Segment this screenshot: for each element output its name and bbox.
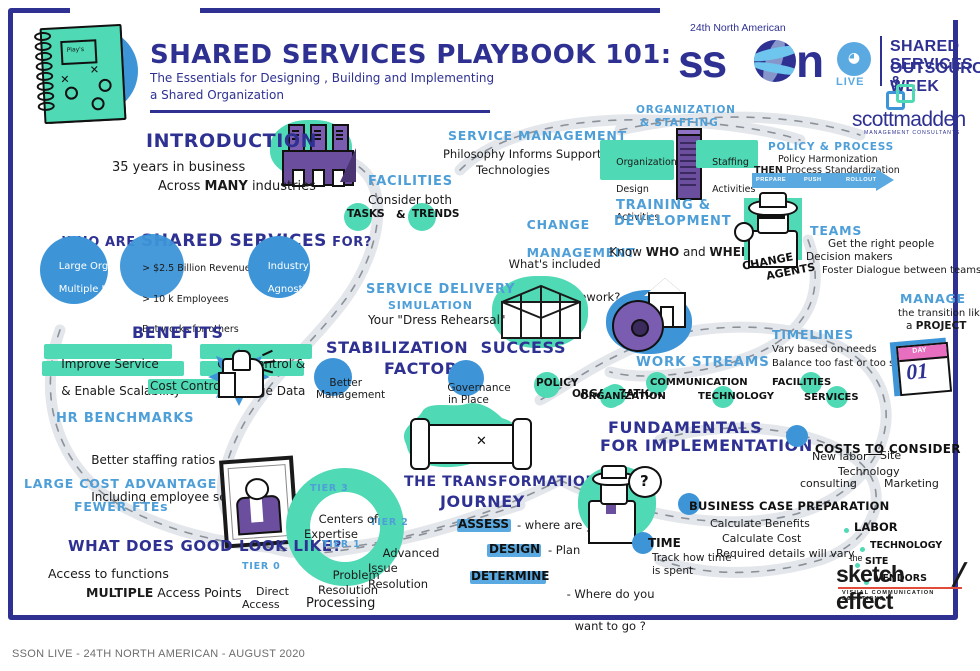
section-heading-transformation-journey-1: THE TRANSFORMATION xyxy=(404,475,598,491)
manage-line-2: a PROJECT xyxy=(906,321,966,333)
section-heading-work-streams: WORK STREAMS xyxy=(636,355,770,370)
border-notch-left xyxy=(70,4,200,18)
section-heading-service-delivery: SERVICE DELIVERY xyxy=(366,283,515,298)
bubble-industry-agnostic-label: Industry Agnostic xyxy=(255,250,311,306)
scottmadden-logo: scottmadden MANAGEMENT CONSULTANTS xyxy=(852,86,964,128)
introduction-line-1: 35 years in business xyxy=(112,161,245,176)
sketch-effect-tagline: VISUAL COMMUNICATION SOLUTIONS xyxy=(842,590,966,602)
film-reel-illustration xyxy=(612,300,664,352)
section-heading-facilities: FACILITIES xyxy=(368,175,453,190)
subtitle-line-1: The Essentials for Designing , Building … xyxy=(150,71,494,85)
title-underline xyxy=(150,110,490,113)
sketch-effect-logo: the sketch effect / VISUAL COMMUNICATION… xyxy=(836,553,966,601)
arrow-step-prepare: PREPARE xyxy=(756,177,786,183)
journey-step-1-label: ASSESS xyxy=(458,518,509,531)
sson-eyebrow: 24th North American xyxy=(690,22,786,34)
squares-icon xyxy=(886,84,916,108)
journey-step-2-text: - Plan xyxy=(548,544,580,557)
tier-0-text: DirectAccess xyxy=(242,574,289,623)
footer-caption: SSON LIVE - 24TH NORTH AMERICAN - AUGUST… xyxy=(12,648,305,660)
section-heading-transformation-journey-2: JOURNEY xyxy=(440,493,525,511)
facilities-pill-trends: TRENDS xyxy=(412,209,460,221)
service-delivery-line-1: Your "Dress Rehearsal" xyxy=(368,314,505,327)
business-case-line-2: Calculate Cost xyxy=(722,533,801,545)
section-heading-training-development-2: DEVELOPMENT xyxy=(614,215,731,230)
tier-2-text: AdvancedIssueResolution xyxy=(368,530,439,608)
page-subtitle: The Essentials for Designing , Building … xyxy=(150,70,494,105)
cost-item-site: Site xyxy=(880,450,901,462)
section-heading-organization-staffing-1: ORGANIZATION xyxy=(636,105,736,117)
tiers-processing-label: Processing xyxy=(306,597,375,612)
section-heading-training-development-1: TRAINING & xyxy=(616,199,711,214)
facilities-pill-tasks: TASKS xyxy=(347,209,385,221)
bullet-technology-dot xyxy=(860,547,865,552)
arrow-tip-icon xyxy=(876,169,894,191)
business-case-line-1: Calculate Benefits xyxy=(710,518,810,530)
training-development-line: Know WHO and WHEN xyxy=(594,233,751,273)
cost-bullet-labor: LABOR xyxy=(854,521,898,534)
playbook-tag-label: Play's xyxy=(67,46,85,54)
factory-roof xyxy=(340,148,356,182)
time-line-1: Track how time xyxy=(652,553,732,565)
scroll-end-right xyxy=(512,418,532,470)
globe-icon xyxy=(754,40,796,82)
introduction-line-2: Across MANY industries xyxy=(158,180,316,195)
thumb-cuff xyxy=(218,372,236,398)
service-management-line-1: Philosophy Informs Supporting xyxy=(443,148,619,161)
stabilization-bubble-1-label: BetterManagement xyxy=(316,366,385,413)
magnifier-icon xyxy=(734,222,754,242)
timelines-line-1: Vary based on needs xyxy=(772,344,877,355)
bubble-large-orgs-label: Large Orgs Multiple Units xyxy=(46,250,127,306)
facilities-amp: & xyxy=(396,209,406,221)
page-title: SHARED SERVICES PLAYBOOK 101: xyxy=(150,40,672,70)
treasure-map-scroll: ✕ xyxy=(418,424,526,464)
section-heading-business-case: BUSINESS CASE PREPARATION xyxy=(689,500,889,513)
explorer-hat-crown xyxy=(601,465,627,479)
facilities-line-1: Consider both xyxy=(368,194,452,207)
teams-line-2: Decision makers xyxy=(806,252,893,264)
section-heading-what-does-good-look-like: WHAT DOES GOOD LOOK LIKE? xyxy=(68,538,342,555)
work-stream-organization: ORGANIZATION xyxy=(580,391,666,402)
calendar-illustration: DAY 01 xyxy=(896,342,952,396)
cost-item-new-labor: New labor xyxy=(812,451,868,463)
sketchnote-canvas: 24th North American ss n ◕ LIVE SHARED S… xyxy=(0,0,980,671)
work-stream-technology: TECHNOLOGY xyxy=(698,391,774,402)
section-heading-time: TIME xyxy=(648,537,681,550)
playbook-tag: Play's xyxy=(60,39,97,65)
teams-line-1: Get the right people xyxy=(828,239,934,251)
cost-bullet-technology: TECHNOLOGY xyxy=(870,541,942,552)
cost-item-marketing: Marketing xyxy=(884,478,939,490)
work-stream-facilities: FACILITIES xyxy=(772,377,831,388)
tier-3-text: Centers ofExpertise xyxy=(304,496,378,558)
subtitle-line-2: a Shared Organization xyxy=(150,88,284,102)
question-bubble-icon: ? xyxy=(628,466,662,498)
journey-step-3-label: DETERMINE xyxy=(471,570,549,583)
work-stream-communication: COMMUNICATION xyxy=(650,377,748,388)
scottmadden-name: scottmadden xyxy=(852,108,966,132)
teams-line-3: Foster Dialogue between teams xyxy=(822,265,980,276)
section-heading-policy-process: POLICY & PROCESS xyxy=(768,142,894,154)
service-delivery-sub: SIMULATION xyxy=(388,300,473,312)
large-cost-advantage-sub: FEWER FTEs xyxy=(74,500,168,514)
logo-divider xyxy=(880,36,882,86)
cost-item-consulting: consulting xyxy=(800,478,857,490)
sson-wordmark-tail: n xyxy=(796,34,822,88)
section-heading-large-cost-advantage: LARGE COST ADVANTAGE xyxy=(24,477,217,491)
sson-logo: 24th North American ss n ◕ LIVE SHARED S… xyxy=(668,22,964,96)
change-agent-hat-crown xyxy=(759,192,787,208)
service-management-line-2: Technologies xyxy=(476,164,550,177)
journey-step-2-label: DESIGN xyxy=(489,543,540,556)
business-case-line-3: Required details will vary xyxy=(716,548,855,560)
arrow-step-push: PUSH xyxy=(804,177,822,183)
scroll-end-left xyxy=(410,418,430,470)
section-heading-fundamentals-2: FOR IMPLEMENTATION xyxy=(600,437,813,455)
good-look-line-2: MULTIPLE Access Points xyxy=(86,586,242,600)
section-heading-benefits: BENEFITS xyxy=(132,324,224,342)
section-heading-hr-benchmarks: HR BENCHMARKS xyxy=(56,412,194,427)
section-heading-stabilization-1: STABILIZATION SUCCESS xyxy=(326,339,566,357)
work-stream-services: SERVICES xyxy=(804,392,859,403)
manage-line-1: the transition like xyxy=(898,308,980,319)
tier-3-label: TIER 3 xyxy=(310,484,349,495)
section-heading-teams: TEAMS xyxy=(810,224,862,238)
arrow-step-rollout: ROLLOUT xyxy=(846,177,877,183)
tier-0-label: TIER 0 xyxy=(242,562,281,573)
section-heading-fundamentals-1: FUNDAMENTALS xyxy=(608,419,762,437)
sson-wordmark: ss xyxy=(678,34,725,88)
journey-step-3-text: - Where do you want to go ? xyxy=(552,570,655,650)
scottmadden-tagline: MANAGEMENT CONSULTANTS xyxy=(864,130,960,136)
border-notch-right xyxy=(660,4,965,20)
section-heading-manage: MANAGE xyxy=(900,292,966,306)
calendar-number: 01 xyxy=(905,358,929,386)
wifi-icon: ◕ xyxy=(837,42,871,76)
time-line-2: is spent xyxy=(652,566,693,578)
section-heading-timelines: TIMELINES xyxy=(772,328,854,342)
calendar-day-label: DAY xyxy=(912,347,927,355)
thumb-shape xyxy=(232,350,251,371)
sketch-effect-rule xyxy=(838,587,962,589)
section-heading-introduction: INTRODUCTION xyxy=(146,131,317,152)
good-look-line-1: Access to functions xyxy=(48,567,169,581)
bullet-labor-dot xyxy=(844,528,849,533)
